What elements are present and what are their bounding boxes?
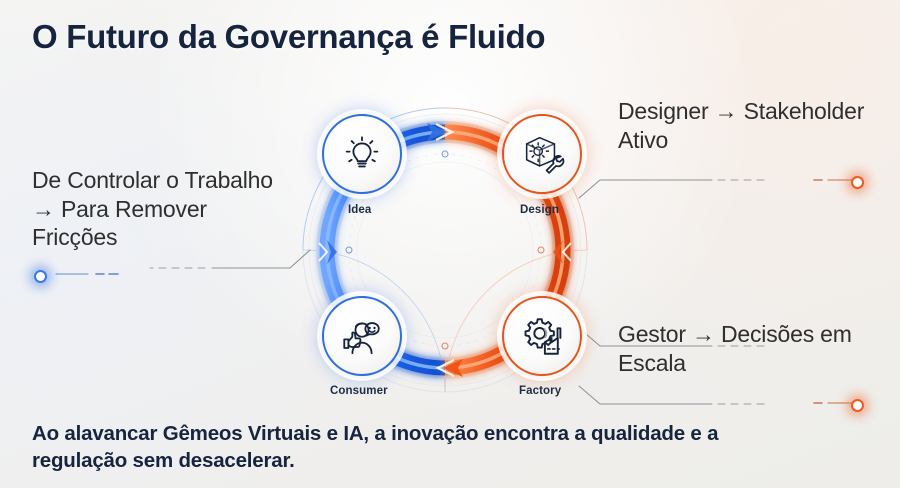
cycle-node-consumer[interactable] [322, 296, 402, 376]
callout-left: De Controlar o Trabalho → Para Remover F… [32, 166, 297, 252]
gear-factory-icon [518, 313, 566, 359]
cycle-node-label-factory: Factory [519, 385, 561, 397]
callout-top-right: Designer → Stakeholder Ativo [618, 97, 880, 154]
connector-top-right [579, 180, 852, 198]
page-caption: Ao alavancar Gêmeos Virtuais e IA, a ino… [32, 420, 792, 474]
cube-wrench-icon [518, 131, 566, 177]
slide-canvas: O Futuro da Governança é Fluido [0, 0, 900, 488]
blue-glow-dot [34, 270, 47, 283]
cycle-node-idea[interactable] [322, 114, 402, 194]
orange-glow-dot [851, 176, 864, 189]
person-thumbsup-icon [337, 313, 387, 359]
cycle-node-label-idea: Idea [348, 204, 371, 216]
orange-glow-dot [851, 399, 864, 412]
connector-left [56, 250, 310, 274]
cycle-node-factory[interactable] [502, 296, 582, 376]
cycle-node-label-consumer: Consumer [330, 385, 388, 397]
lightbulb-icon [339, 131, 385, 177]
cycle-node-label-design: Design [520, 204, 559, 216]
cycle-node-design[interactable] [502, 114, 582, 194]
callout-bottom-right: Gestor → Decisões em Escala [618, 320, 880, 377]
